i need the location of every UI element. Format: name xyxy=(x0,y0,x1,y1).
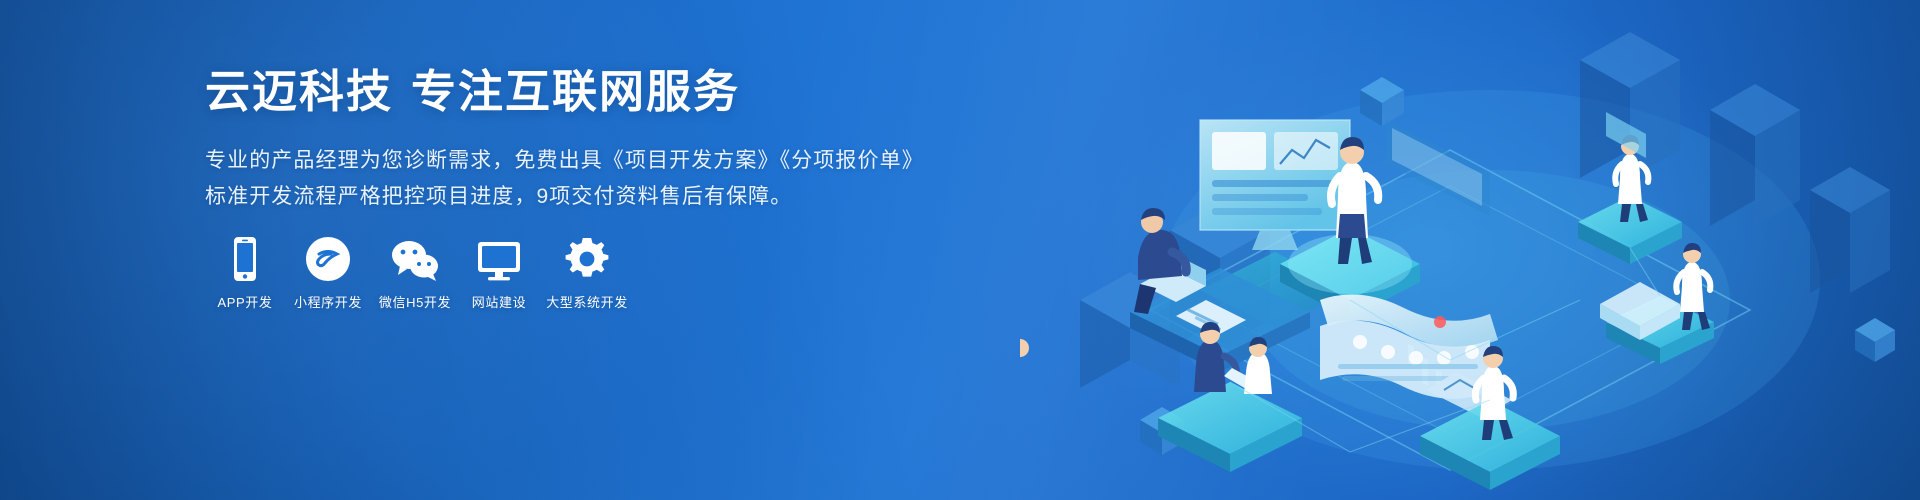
service-label-mini-program: 小程序开发 xyxy=(294,292,362,311)
service-item-app[interactable]: APP开发 xyxy=(205,230,285,311)
service-label-app: APP开发 xyxy=(217,292,272,311)
headline-brand: 云迈科技 xyxy=(205,66,393,117)
banner-content: 云迈科技专注互联网服务 专业的产品经理为您诊断需求，免费出具《项目开发方案》《分… xyxy=(205,68,905,215)
page-title: 云迈科技专注互联网服务 xyxy=(205,68,905,117)
promo-banner: 云迈科技专注互联网服务 专业的产品经理为您诊断需求，免费出具《项目开发方案》《分… xyxy=(0,0,1920,500)
service-list: APP开发 小程序开发 xyxy=(205,230,635,311)
hero-illustration xyxy=(1020,0,1920,500)
mini-program-icon xyxy=(302,230,354,282)
service-item-mini-program[interactable]: 小程序开发 xyxy=(285,230,371,311)
service-item-website[interactable]: 网站建设 xyxy=(459,230,539,311)
headline-tagline: 专注互联网服务 xyxy=(411,66,740,117)
mobile-phone-icon xyxy=(219,230,271,282)
service-item-wechat[interactable]: 微信H5开发 xyxy=(371,230,459,311)
subtitle-line-1: 专业的产品经理为您诊断需求，免费出具《项目开发方案》《分项报价单》 xyxy=(205,143,905,179)
service-item-system[interactable]: 大型系统开发 xyxy=(539,230,635,311)
service-label-wechat: 微信H5开发 xyxy=(379,292,451,311)
service-label-website: 网站建设 xyxy=(472,292,526,311)
subtitle-line-2: 标准开发流程严格把控项目进度，9项交付资料售后有保障。 xyxy=(205,179,905,215)
monitor-icon xyxy=(473,230,525,282)
service-label-system: 大型系统开发 xyxy=(546,292,628,311)
wechat-icon xyxy=(389,230,441,282)
gear-icon xyxy=(561,230,613,282)
